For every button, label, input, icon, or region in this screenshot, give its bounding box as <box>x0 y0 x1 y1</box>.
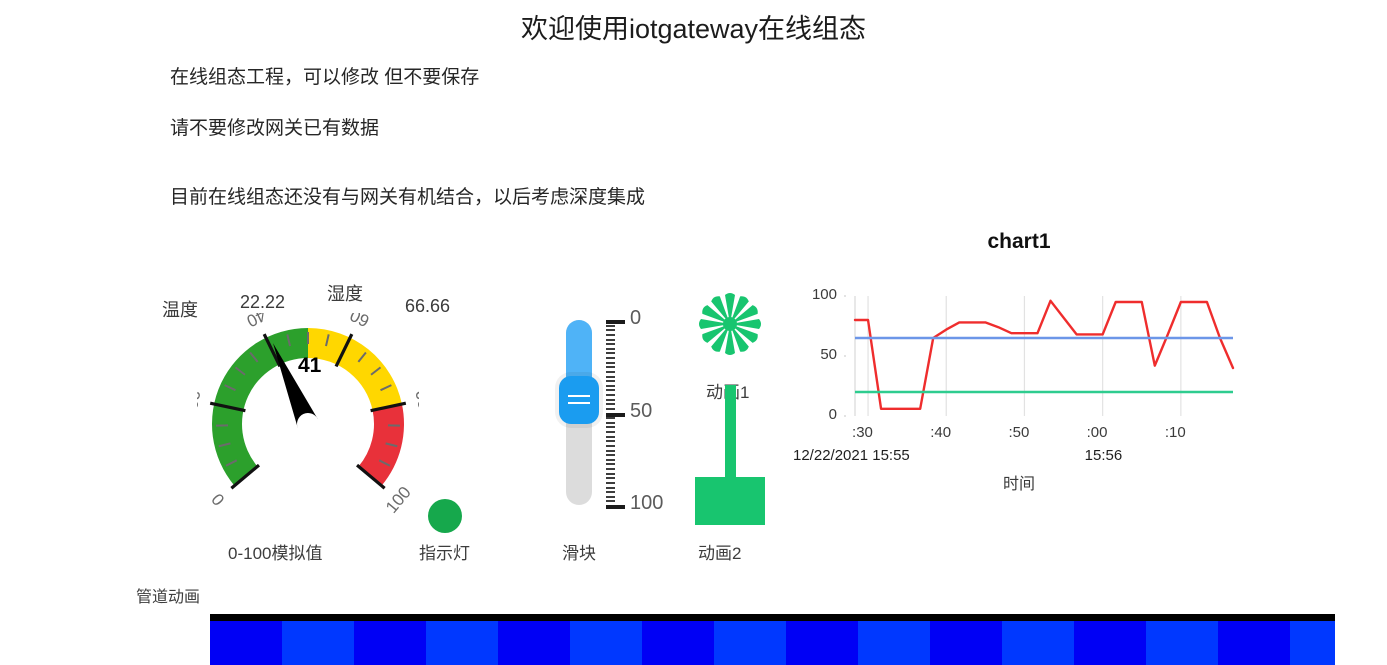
slider-scale-label: 0 <box>630 307 641 330</box>
slider-tick <box>606 399 615 401</box>
slider-tick <box>606 413 625 417</box>
slider-tick <box>606 403 615 405</box>
slider-tick <box>606 343 615 345</box>
pipe-caption: 管道动画 <box>136 583 200 607</box>
pipe-segment <box>786 621 858 665</box>
slider-tick <box>606 496 615 498</box>
chart-x-tick-label: :10 <box>1165 424 1186 441</box>
pipe-segment <box>570 621 642 665</box>
slider-tick <box>606 459 615 461</box>
temperature-label: 温度 <box>162 296 198 322</box>
slider-tick <box>606 422 615 424</box>
gauge-svg: 020406080100 <box>197 313 419 535</box>
svg-text:100: 100 <box>382 483 415 517</box>
temperature-value: 22.22 <box>240 292 285 313</box>
humidity-label: 湿度 <box>327 280 363 306</box>
chart-x-tick-label: :40 <box>930 424 951 441</box>
pipe-segment <box>1002 621 1074 665</box>
note-line-3: 目前在线组态还没有与网关有机结合，以后考虑深度集成 <box>170 182 645 209</box>
slider-tick <box>606 426 615 428</box>
note-line-1: 在线组态工程，可以修改 但不要保存 <box>170 62 479 89</box>
slider-tick <box>606 431 615 433</box>
slider-tick <box>606 362 615 364</box>
pipe-segment <box>498 621 570 665</box>
svg-text:80: 80 <box>412 388 419 410</box>
slider-tick <box>606 445 615 447</box>
valve-animation[interactable] <box>695 385 765 525</box>
slider-tick <box>606 380 615 382</box>
slider-tick <box>606 468 615 470</box>
slider-tick <box>606 454 615 456</box>
slider-tick <box>606 436 615 438</box>
slider-tick <box>606 366 615 368</box>
pipe-segment <box>282 621 354 665</box>
analog-gauge[interactable]: 020406080100 <box>197 313 419 535</box>
pipe-segment <box>210 621 282 665</box>
slider-scale-label: 100 <box>630 492 663 515</box>
pipe-top-border <box>210 614 1335 621</box>
slider-tick <box>606 376 615 378</box>
slider-tick <box>606 477 615 479</box>
pipe-segment <box>426 621 498 665</box>
gauge-caption: 0-100模拟值 <box>228 539 322 564</box>
pipe-segment <box>858 621 930 665</box>
chart-x-tick-label: :00 <box>1087 424 1108 441</box>
slider-tick <box>606 482 615 484</box>
slider-tick <box>606 334 615 336</box>
valve-base <box>695 477 765 525</box>
slider-tick <box>606 352 615 354</box>
chart-y-tick-label: 50 <box>797 346 837 363</box>
slider-tick <box>606 487 615 489</box>
slider-tick <box>606 389 615 391</box>
fan-icon <box>694 288 766 360</box>
slider-tick <box>606 320 625 324</box>
chart-x-tick-label: :50 <box>1008 424 1029 441</box>
slider-tick <box>606 348 615 350</box>
slider-tick <box>606 440 615 442</box>
chart-y-tick-label: 100 <box>797 286 837 303</box>
pipe-segment <box>930 621 1002 665</box>
gauge-value: 41 <box>298 354 321 378</box>
slider-tick <box>606 385 615 387</box>
slider-tick <box>606 491 615 493</box>
slider-tick <box>606 371 615 373</box>
slider-scale-label: 50 <box>630 400 652 423</box>
indicator-lamp[interactable] <box>428 499 462 533</box>
slider-thumb-grip-line <box>568 402 590 404</box>
slider-thumb[interactable] <box>559 376 599 424</box>
slider-scale: 050100 <box>606 310 668 510</box>
pipe-segment <box>642 621 714 665</box>
pipe-segment <box>1290 621 1335 665</box>
slider-tick <box>606 408 615 410</box>
slider-tick <box>606 394 615 396</box>
valve-stem <box>725 385 736 477</box>
slider-tick <box>606 505 625 509</box>
svg-text:20: 20 <box>197 388 204 410</box>
pipe-segment <box>354 621 426 665</box>
animation2-caption: 动画2 <box>698 539 741 564</box>
indicator-lamp-caption: 指示灯 <box>419 539 470 564</box>
slider-tick <box>606 500 615 502</box>
slider-tick <box>606 473 615 475</box>
slider-tick <box>606 417 615 419</box>
slider-tick <box>606 339 615 341</box>
chart-y-tick-label: 0 <box>797 406 837 423</box>
pipe-segment <box>1218 621 1290 665</box>
page-title: 欢迎使用iotgateway在线组态 <box>0 7 1387 46</box>
slider-thumb-grip-line <box>568 395 590 397</box>
svg-text:40: 40 <box>244 313 269 331</box>
configuration-canvas: 欢迎使用iotgateway在线组态 在线组态工程，可以修改 但不要保存 请不要… <box>0 0 1387 665</box>
pipe-body <box>210 621 1335 665</box>
chart-panel[interactable]: chart1 050100 :30:40:50:00:1012/22/2021 … <box>793 230 1245 495</box>
svg-text:0: 0 <box>207 490 228 509</box>
chart-x-sub-label: 15:56 <box>1085 447 1123 464</box>
slider-tick <box>606 463 615 465</box>
chart-x-axis-title: 时间 <box>793 470 1245 494</box>
pipe-animation[interactable] <box>210 614 1335 665</box>
svg-text:60: 60 <box>347 313 372 331</box>
note-line-2: 请不要修改网关已有数据 <box>170 113 379 140</box>
pipe-segment <box>1074 621 1146 665</box>
chart-x-tick-label: :30 <box>852 424 873 441</box>
vertical-slider[interactable]: 050100 <box>558 310 668 510</box>
slider-tick <box>606 357 615 359</box>
slider-tick <box>606 450 615 452</box>
chart-x-sub-label: 12/22/2021 15:55 <box>793 447 910 464</box>
slider-tick <box>606 325 615 327</box>
fan-animation[interactable] <box>694 288 766 360</box>
pipe-segment <box>714 621 786 665</box>
pipe-segment <box>1146 621 1218 665</box>
slider-tick <box>606 329 615 331</box>
slider-caption: 滑块 <box>562 539 596 564</box>
